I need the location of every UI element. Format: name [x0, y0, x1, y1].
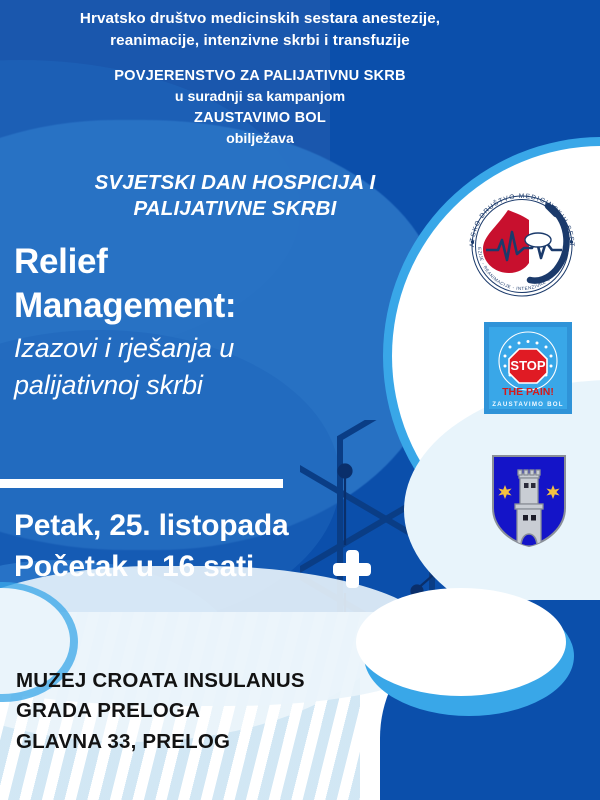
committee-line-4: obilježava — [30, 129, 490, 150]
venue-line-1: MUZEJ CROATA INSULANUS — [16, 666, 436, 696]
organization-header: Hrvatsko društvo medicinskih sestara ane… — [0, 8, 520, 51]
committee-line-2: u suradnji sa kampanjom — [30, 87, 490, 108]
event-subtitle-line-2: palijativnoj skrbi — [14, 368, 434, 403]
occasion-line-2: PALIJATIVNE SKRBI — [20, 196, 450, 222]
stop-the-pain-campaign: ZAUSTAVIMO BOL — [492, 401, 564, 408]
tower-window-right — [531, 483, 536, 488]
committee-block: POVJERENSTVO ZA PALIJATIVNU SKRB u surad… — [30, 66, 490, 150]
poster-content: Hrvatsko društvo medicinskih sestara ane… — [0, 0, 600, 800]
tower-window-lower-left — [523, 515, 528, 521]
airway-mask-shape — [525, 233, 551, 247]
stop-the-pain-inner: STOP THE PAIN! ZAUSTAVIMO BOL — [489, 327, 567, 409]
organization-line-2: reanimacije, intenzivne skrbi i transfuz… — [0, 30, 520, 52]
stop-sign-text: STOP — [510, 358, 545, 373]
event-title: Relief Management: Izazovi i rješanja u … — [14, 240, 434, 403]
stop-the-pain-logo: STOP THE PAIN! ZAUSTAVIMO BOL — [484, 322, 572, 414]
occasion-line-1: SVJETSKI DAN HOSPICIJA I — [20, 170, 450, 196]
divider-bar — [0, 479, 283, 488]
venue-block: MUZEJ CROATA INSULANUS GRADA PRELOGA GLA… — [16, 666, 436, 757]
venue-line-2: GRADA PRELOGA — [16, 696, 436, 726]
event-subtitle-line-1: Izazovi i rješanja u — [14, 331, 434, 366]
tower-window-left — [524, 483, 529, 488]
committee-line-3: ZAUSTAVIMO BOL — [30, 108, 490, 129]
tower-window-lower-right — [531, 515, 536, 521]
poster-root: Hrvatsko društvo medicinskih sestara ane… — [0, 0, 600, 800]
medical-cross-horizontal — [333, 563, 371, 576]
stop-the-pain-tagline: THE PAIN! — [502, 386, 554, 398]
event-title-line-2: Management: — [14, 284, 434, 328]
occasion-block: SVJETSKI DAN HOSPICIJA I PALIJATIVNE SKR… — [20, 170, 450, 222]
committee-line-1: POVJERENSTVO ZA PALIJATIVNU SKRB — [30, 66, 490, 87]
organization-line-1: Hrvatsko društvo medicinskih sestara ane… — [0, 8, 520, 30]
prelog-coat-of-arms — [487, 452, 571, 548]
medical-cross-icon — [333, 550, 371, 588]
event-title-line-1: Relief — [14, 240, 434, 284]
event-date: Petak, 25. listopada — [14, 506, 414, 547]
venue-line-3: GLAVNA 33, PRELOG — [16, 727, 436, 757]
society-emblem-logo: HRVATSKO DRUŠTVO MEDICINSKIH SESTARA ANE… — [456, 180, 588, 312]
